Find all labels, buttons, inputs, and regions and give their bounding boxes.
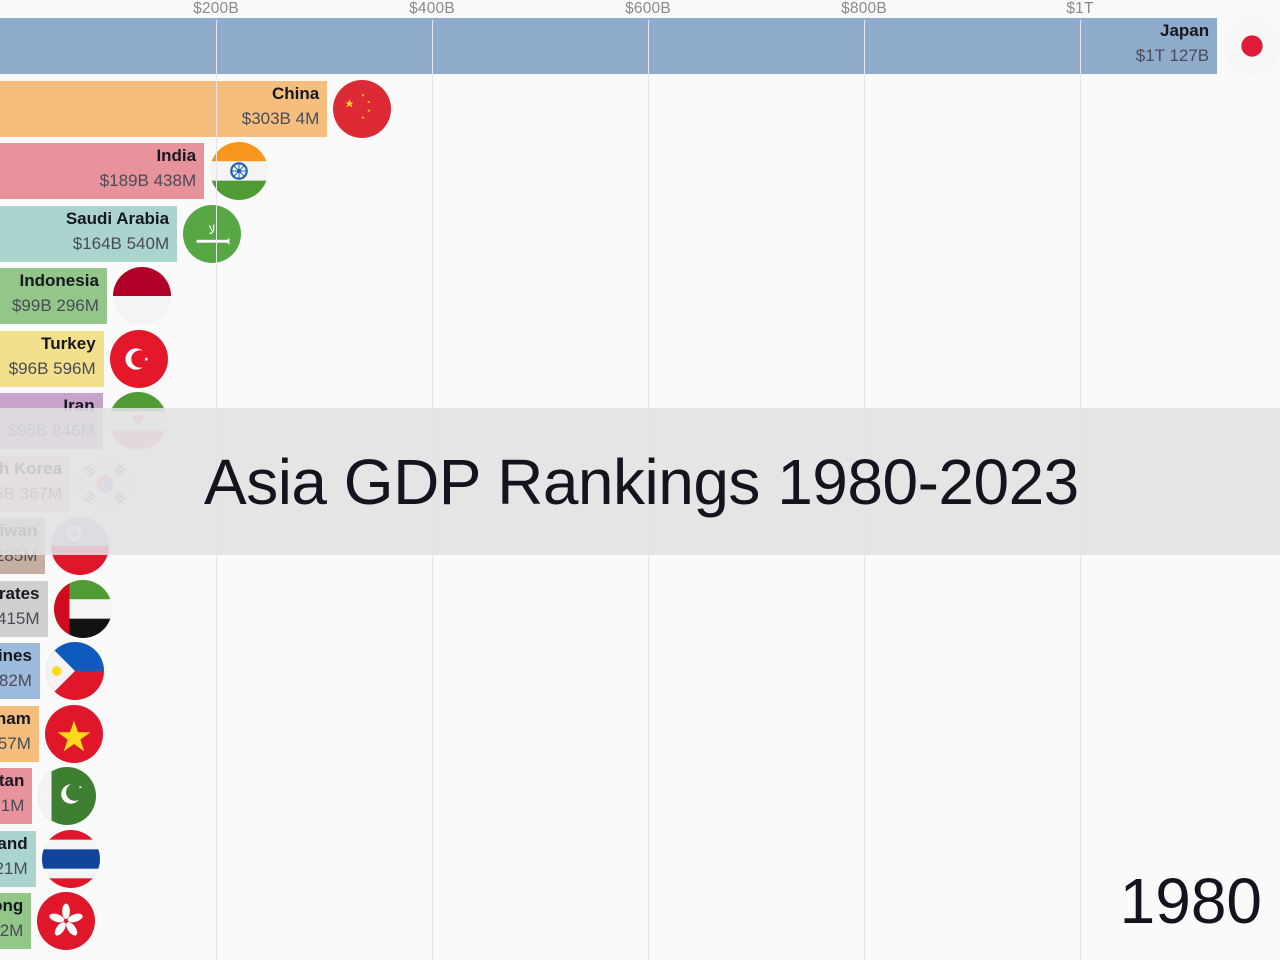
bar-rect-philippines[interactable]: Philippines$37B 382M (0, 643, 40, 699)
flag-thailand-icon (42, 830, 100, 888)
bar-value-label: $303B 4M (242, 109, 320, 129)
bar-rect-vietnam[interactable]: Vietnam$36B 657M (0, 706, 39, 762)
bar-country-label: Saudi Arabia (66, 209, 169, 229)
year-counter: 1980 (1120, 864, 1262, 938)
bar-value-label: $1T 127B (1136, 46, 1209, 66)
bar-country-label: India (156, 146, 196, 166)
flag-pakistan-icon (38, 767, 96, 825)
bar-rect-hong-kong[interactable]: Hong Kong$29B 2M (0, 893, 31, 949)
bar-country-label: Japan (1160, 21, 1209, 41)
bar-value-label: $189B 438M (100, 171, 196, 191)
page-title: Asia GDP Rankings 1980-2023 (204, 445, 1079, 519)
bar-row[interactable]: Pakistan$30B 121M (0, 768, 96, 824)
bar-chart-race: $200B$400B$600B$800B$1T Japan$1T 127BChi… (0, 0, 1280, 960)
bar-value-label: $37B 382M (0, 671, 32, 691)
bar-rect-saudi-arabia[interactable]: Saudi Arabia$164B 540M (0, 206, 177, 262)
flag-turkey-icon (110, 330, 168, 388)
bar-value-label: $29B 2M (0, 921, 23, 941)
bar-row[interactable]: India$189B 438M (0, 143, 268, 199)
bar-country-label: Thailand (0, 834, 28, 854)
chart-title-banner: Asia GDP Rankings 1980-2023 (0, 408, 1280, 555)
bar-row[interactable]: Hong Kong$29B 2M (0, 893, 95, 949)
bar-row[interactable]: Saudi Arabia$164B 540Mلا (0, 206, 241, 262)
flag-hongkong-icon (37, 892, 95, 950)
bar-rect-japan[interactable]: Japan$1T 127B (0, 18, 1217, 74)
bar-rect-indonesia[interactable]: Indonesia$99B 296M (0, 268, 107, 324)
bar-row[interactable]: Thailand$33B 021M (0, 831, 100, 887)
bar-rect-pakistan[interactable]: Pakistan$30B 121M (0, 768, 32, 824)
bar-country-label: Hong Kong (0, 896, 23, 916)
flag-philippines-icon (46, 642, 104, 700)
bar-rect-turkey[interactable]: Turkey$96B 596M (0, 331, 104, 387)
flag-vietnam-icon (45, 705, 103, 763)
bar-row[interactable]: United Arab Emirates$43B 415M (0, 581, 112, 637)
bar-country-label: United Arab Emirates (0, 584, 40, 604)
flag-china-icon (333, 80, 391, 138)
bar-row[interactable]: Vietnam$36B 657M (0, 706, 103, 762)
svg-text:لا: لا (209, 222, 216, 237)
bar-row[interactable]: Japan$1T 127B (0, 18, 1280, 74)
bar-country-label: China (272, 84, 319, 104)
bar-country-label: Vietnam (0, 709, 31, 729)
bar-row[interactable]: Turkey$96B 596M (0, 331, 168, 387)
bar-country-label: Turkey (41, 334, 96, 354)
bar-value-label: $43B 415M (0, 609, 40, 629)
flag-indonesia-icon (113, 267, 171, 325)
bar-row[interactable]: Indonesia$99B 296M (0, 268, 171, 324)
bar-rect-united-arab-emirates[interactable]: United Arab Emirates$43B 415M (0, 581, 48, 637)
flag-saudi-icon: لا (183, 205, 241, 263)
bar-country-label: Indonesia (20, 271, 99, 291)
bar-value-label: $96B 596M (9, 359, 96, 379)
bar-value-label: $164B 540M (73, 234, 169, 254)
flag-japan-icon (1223, 17, 1280, 75)
bar-value-label: $33B 021M (0, 859, 28, 879)
bar-row[interactable]: Philippines$37B 382M (0, 643, 104, 699)
bar-value-label: $36B 657M (0, 734, 31, 754)
bar-rect-india[interactable]: India$189B 438M (0, 143, 204, 199)
flag-india-icon (210, 142, 268, 200)
bar-row[interactable]: China$303B 4M (0, 81, 391, 137)
bar-value-label: $30B 121M (0, 796, 24, 816)
bar-country-label: Philippines (0, 646, 32, 666)
bar-country-label: Pakistan (0, 771, 24, 791)
bar-rect-thailand[interactable]: Thailand$33B 021M (0, 831, 36, 887)
bar-rect-china[interactable]: China$303B 4M (0, 81, 327, 137)
flag-uae-icon (54, 580, 112, 638)
bar-value-label: $99B 296M (12, 296, 99, 316)
